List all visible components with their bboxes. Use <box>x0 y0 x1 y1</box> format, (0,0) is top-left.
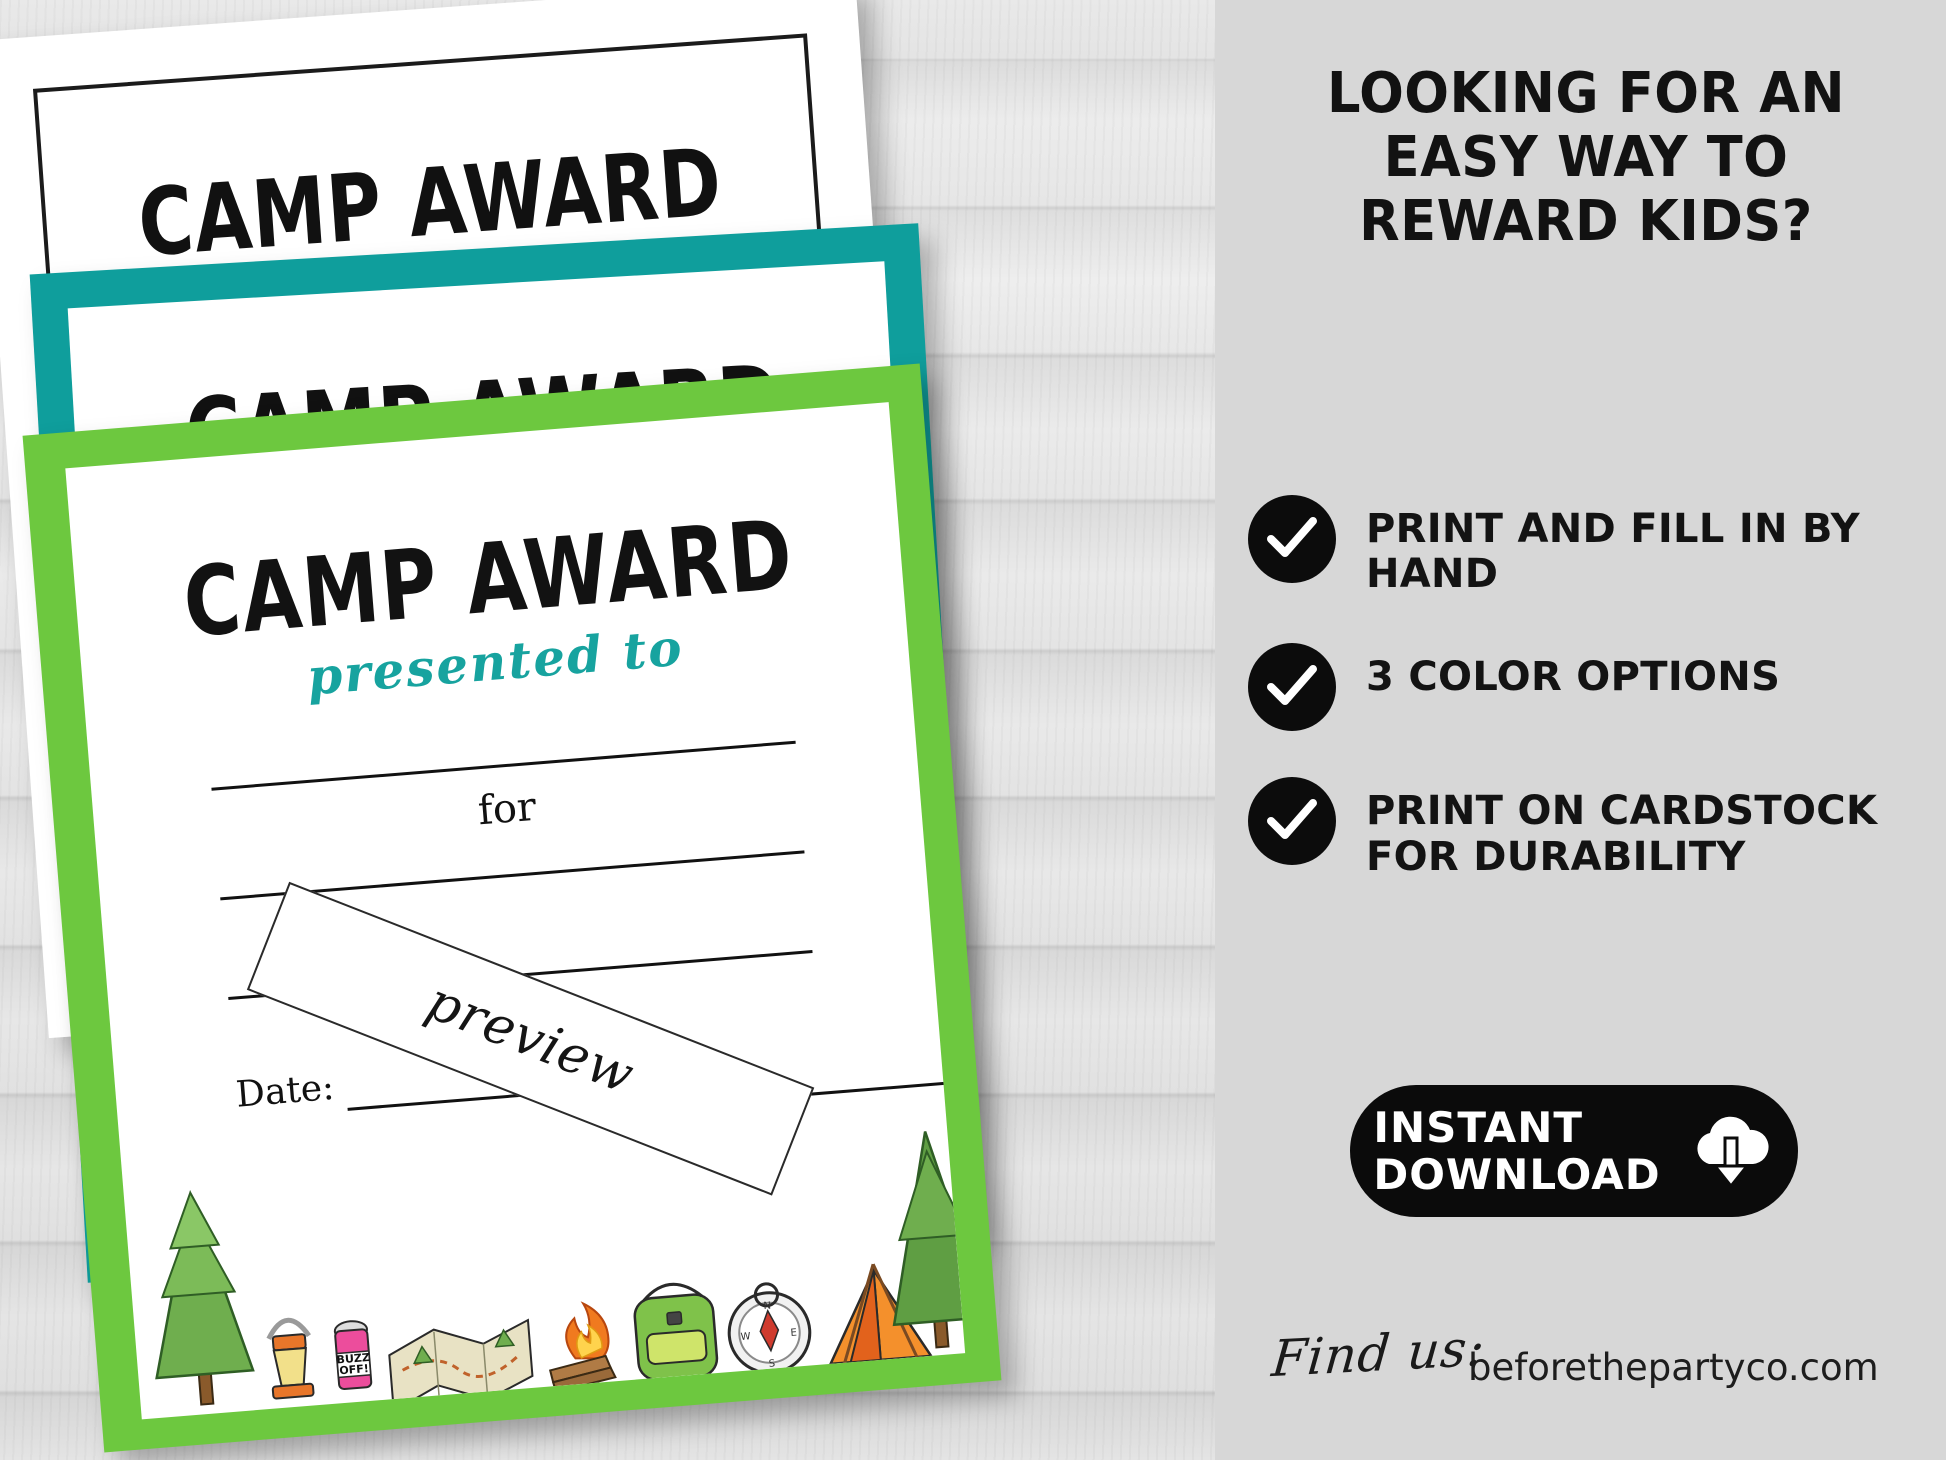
feature-list: PRINT AND FILL IN BY HAND 3 COLOR OPTION… <box>1248 495 1928 926</box>
check-icon <box>1248 777 1336 865</box>
headline-line-1: LOOKING FOR AN <box>1285 62 1887 126</box>
list-item: 3 COLOR OPTIONS <box>1248 643 1928 731</box>
pine-tree-left <box>142 1189 255 1408</box>
preview-watermark-text: preview <box>419 971 643 1106</box>
for-label: for <box>94 753 921 865</box>
check-icon <box>1248 643 1336 731</box>
campfire <box>545 1301 616 1392</box>
svg-text:W: W <box>740 1331 751 1343</box>
check-icon <box>1248 495 1336 583</box>
feature-label: 3 COLOR OPTIONS <box>1366 643 1780 700</box>
list-item: PRINT ON CARDSTOCK FOR DURABILITY <box>1248 777 1928 879</box>
certificate-card-green: CAMP AWARD presented to for Date: Signed… <box>23 364 1002 1453</box>
svg-text:E: E <box>790 1328 797 1339</box>
product-listing-image: CAMP AWARD presented to CAMP AWARD CAMP … <box>0 0 1946 1460</box>
svg-text:S: S <box>768 1358 775 1369</box>
list-item: PRINT AND FILL IN BY HAND <box>1248 495 1928 597</box>
compass: N S W E <box>725 1281 812 1376</box>
camp-lantern <box>267 1319 313 1399</box>
svg-text:N: N <box>763 1301 771 1313</box>
download-line-2: DOWNLOAD <box>1373 1151 1660 1198</box>
headline-line-2: EASY WAY TO <box>1285 126 1887 190</box>
certificate-inner-green: CAMP AWARD presented to for Date: Signed… <box>65 402 965 1419</box>
backpack <box>632 1281 718 1381</box>
trail-map <box>387 1320 535 1419</box>
camping-illustration: BUZZ OFF! <box>123 1114 966 1419</box>
date-label: Date: <box>234 1067 335 1116</box>
page-title: LOOKING FOR AN EASY WAY TO REWARD KIDS? <box>1285 62 1887 253</box>
download-line-1: INSTANT <box>1373 1104 1660 1151</box>
feature-label: PRINT AND FILL IN BY HAND <box>1366 495 1886 597</box>
find-us-label: Find us: <box>1269 1319 1487 1389</box>
headline-line-3: REWARD KIDS? <box>1285 190 1887 254</box>
instant-download-label: INSTANT DOWNLOAD <box>1373 1104 1660 1198</box>
bug-spray-can: BUZZ OFF! <box>333 1320 372 1389</box>
cloud-download-icon <box>1687 1108 1775 1195</box>
website-url[interactable]: beforethepartyco.com <box>1468 1346 1879 1389</box>
instant-download-button[interactable]: INSTANT DOWNLOAD <box>1350 1085 1798 1217</box>
svg-text:OFF!: OFF! <box>339 1362 370 1377</box>
feature-label: PRINT ON CARDSTOCK FOR DURABILITY <box>1366 777 1886 879</box>
